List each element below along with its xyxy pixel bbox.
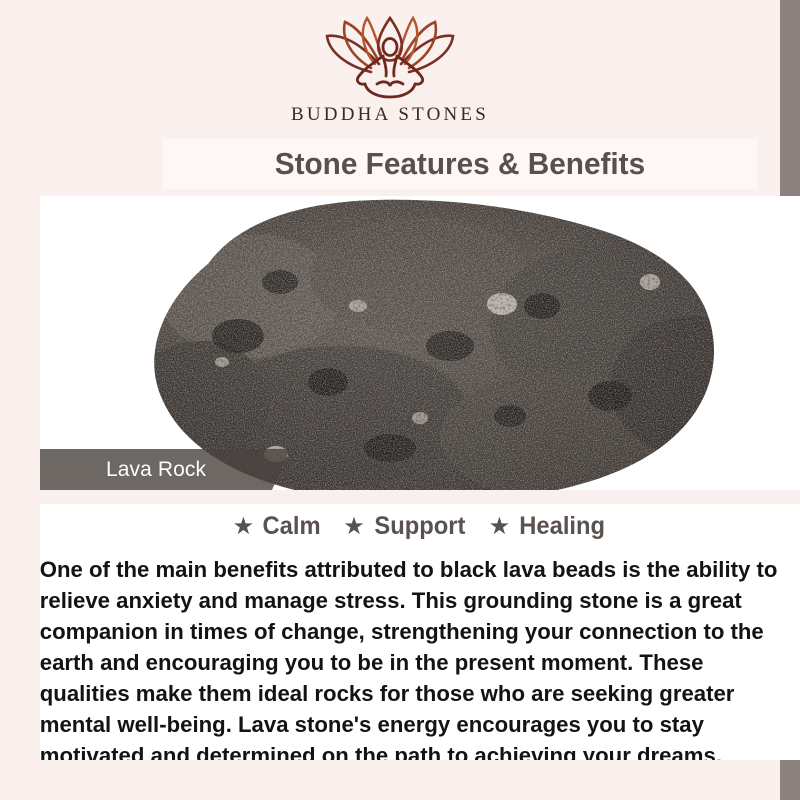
star-icon: ★ bbox=[343, 515, 365, 539]
benefits-row: ★ Calm ★ Support ★ Healing bbox=[40, 512, 800, 541]
photo-caption-label: Lava Rock bbox=[106, 458, 206, 482]
card-header: BUDDHA STONES Stone Features & Benefits bbox=[0, 0, 780, 196]
benefit-label: Healing bbox=[519, 512, 605, 541]
brand-name: BUDDHA STONES bbox=[291, 104, 489, 126]
benefits-description-text: One of the main benefits attributed to b… bbox=[40, 554, 794, 760]
lava-rock-photo: Lava Rock bbox=[40, 196, 800, 490]
benefit-item-calm: ★ Calm bbox=[233, 512, 323, 541]
title-panel: Stone Features & Benefits bbox=[163, 139, 757, 189]
photo-underline-strip bbox=[40, 490, 800, 504]
benefit-label: Support bbox=[374, 512, 465, 541]
benefit-item-support: ★ Support bbox=[343, 512, 467, 541]
content-sheet: Lava Rock ★ Calm ★ Support ★ Healing One… bbox=[40, 196, 800, 760]
brand-logo-block: BUDDHA STONES bbox=[0, 14, 780, 126]
star-icon: ★ bbox=[489, 515, 511, 539]
photo-caption-banner: Lava Rock bbox=[40, 449, 290, 490]
benefit-item-healing: ★ Healing bbox=[489, 512, 608, 541]
lava-rock-image bbox=[90, 196, 750, 490]
benefit-label: Calm bbox=[263, 512, 321, 541]
lotus-meditation-icon bbox=[315, 14, 465, 100]
benefits-description: One of the main benefits attributed to b… bbox=[40, 554, 794, 760]
page-title: Stone Features & Benefits bbox=[275, 146, 645, 182]
star-icon: ★ bbox=[233, 515, 255, 539]
